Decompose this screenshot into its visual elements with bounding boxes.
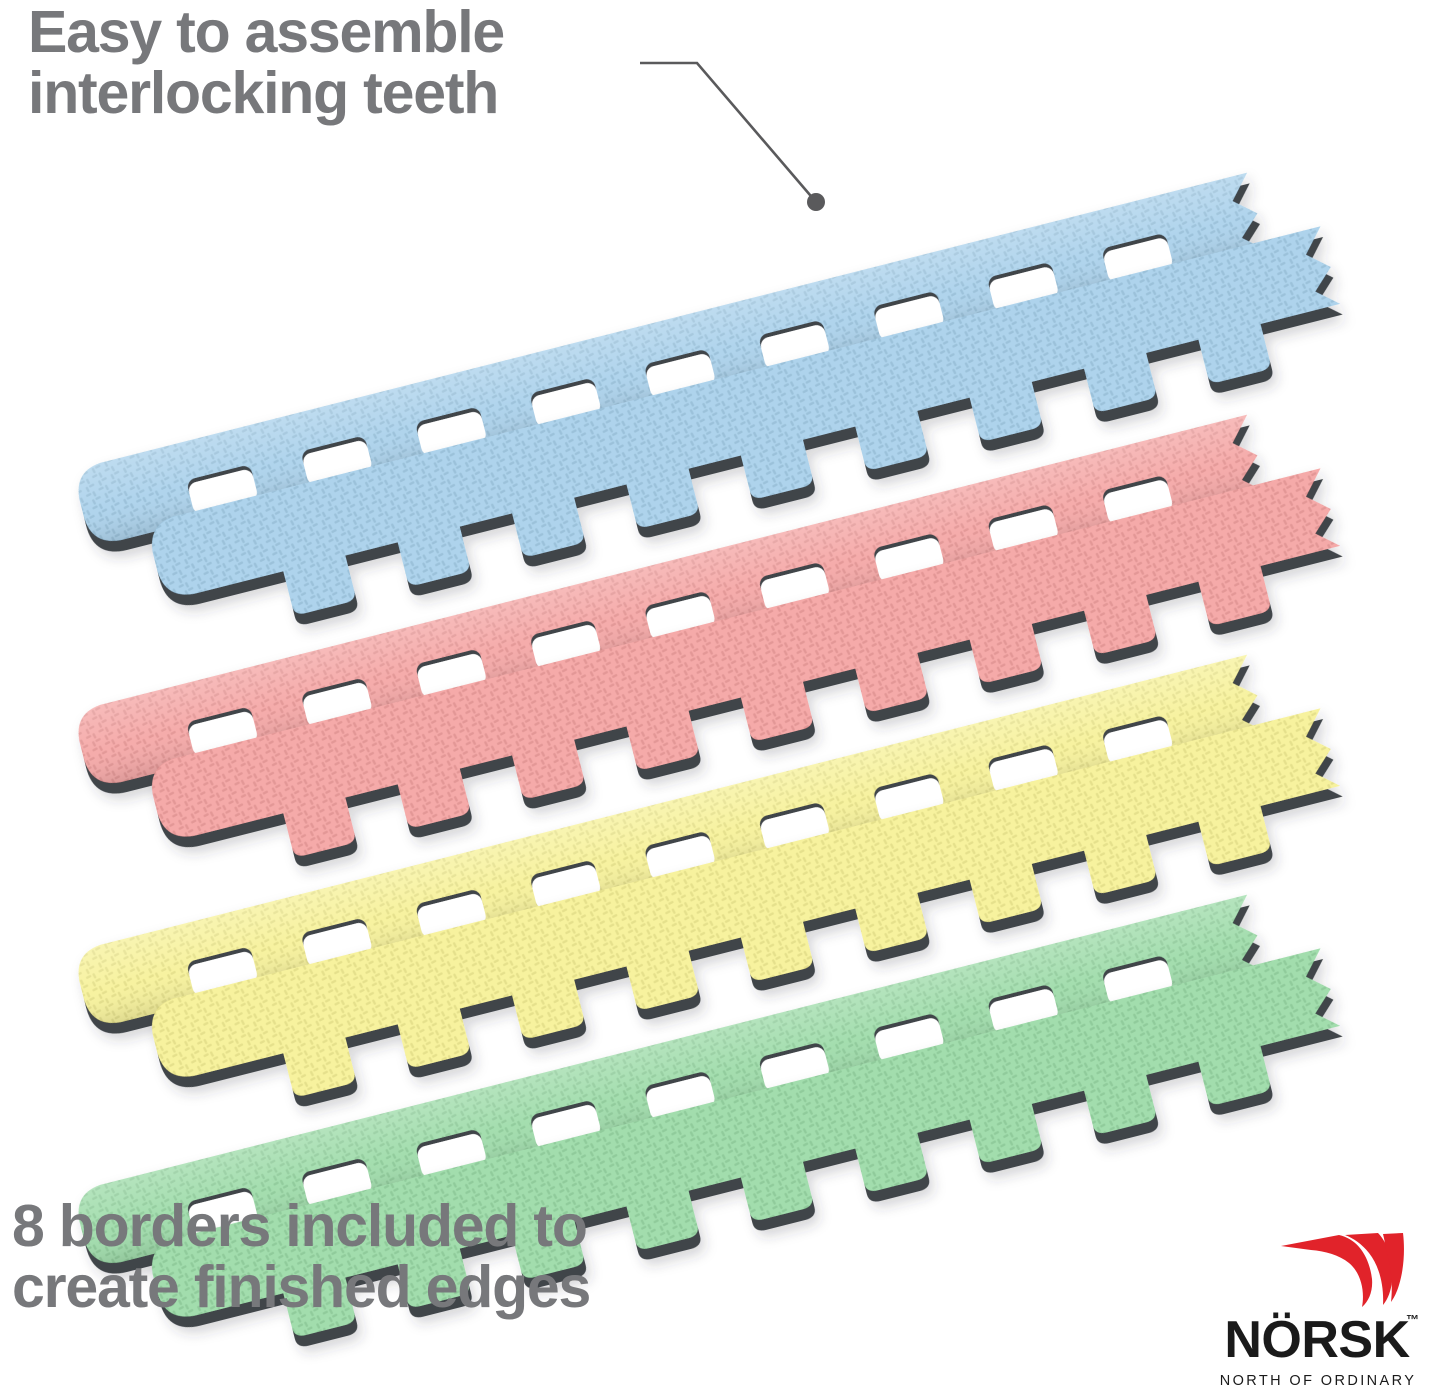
norsk-tagline: NORTH OF ORDINARY	[1211, 1373, 1423, 1389]
norsk-wordmark-row: NÖRSK ™	[1211, 1315, 1423, 1366]
norsk-swoosh-icon	[1279, 1233, 1405, 1309]
norsk-wordmark: NÖRSK	[1224, 1315, 1409, 1366]
trademark-symbol: ™	[1406, 1313, 1419, 1326]
foam-border-mats-illustration	[0, 0, 1445, 1395]
norsk-brand-logo: NÖRSK ™ NORTH OF ORDINARY	[1211, 1233, 1423, 1389]
product-image-canvas: Easy to assemble interlocking teeth 8 bo…	[0, 0, 1445, 1395]
callout-text-interlocking-teeth: Easy to assemble interlocking teeth	[28, 2, 504, 124]
callout-text-borders-included: 8 borders included to create finished ed…	[12, 1196, 590, 1318]
